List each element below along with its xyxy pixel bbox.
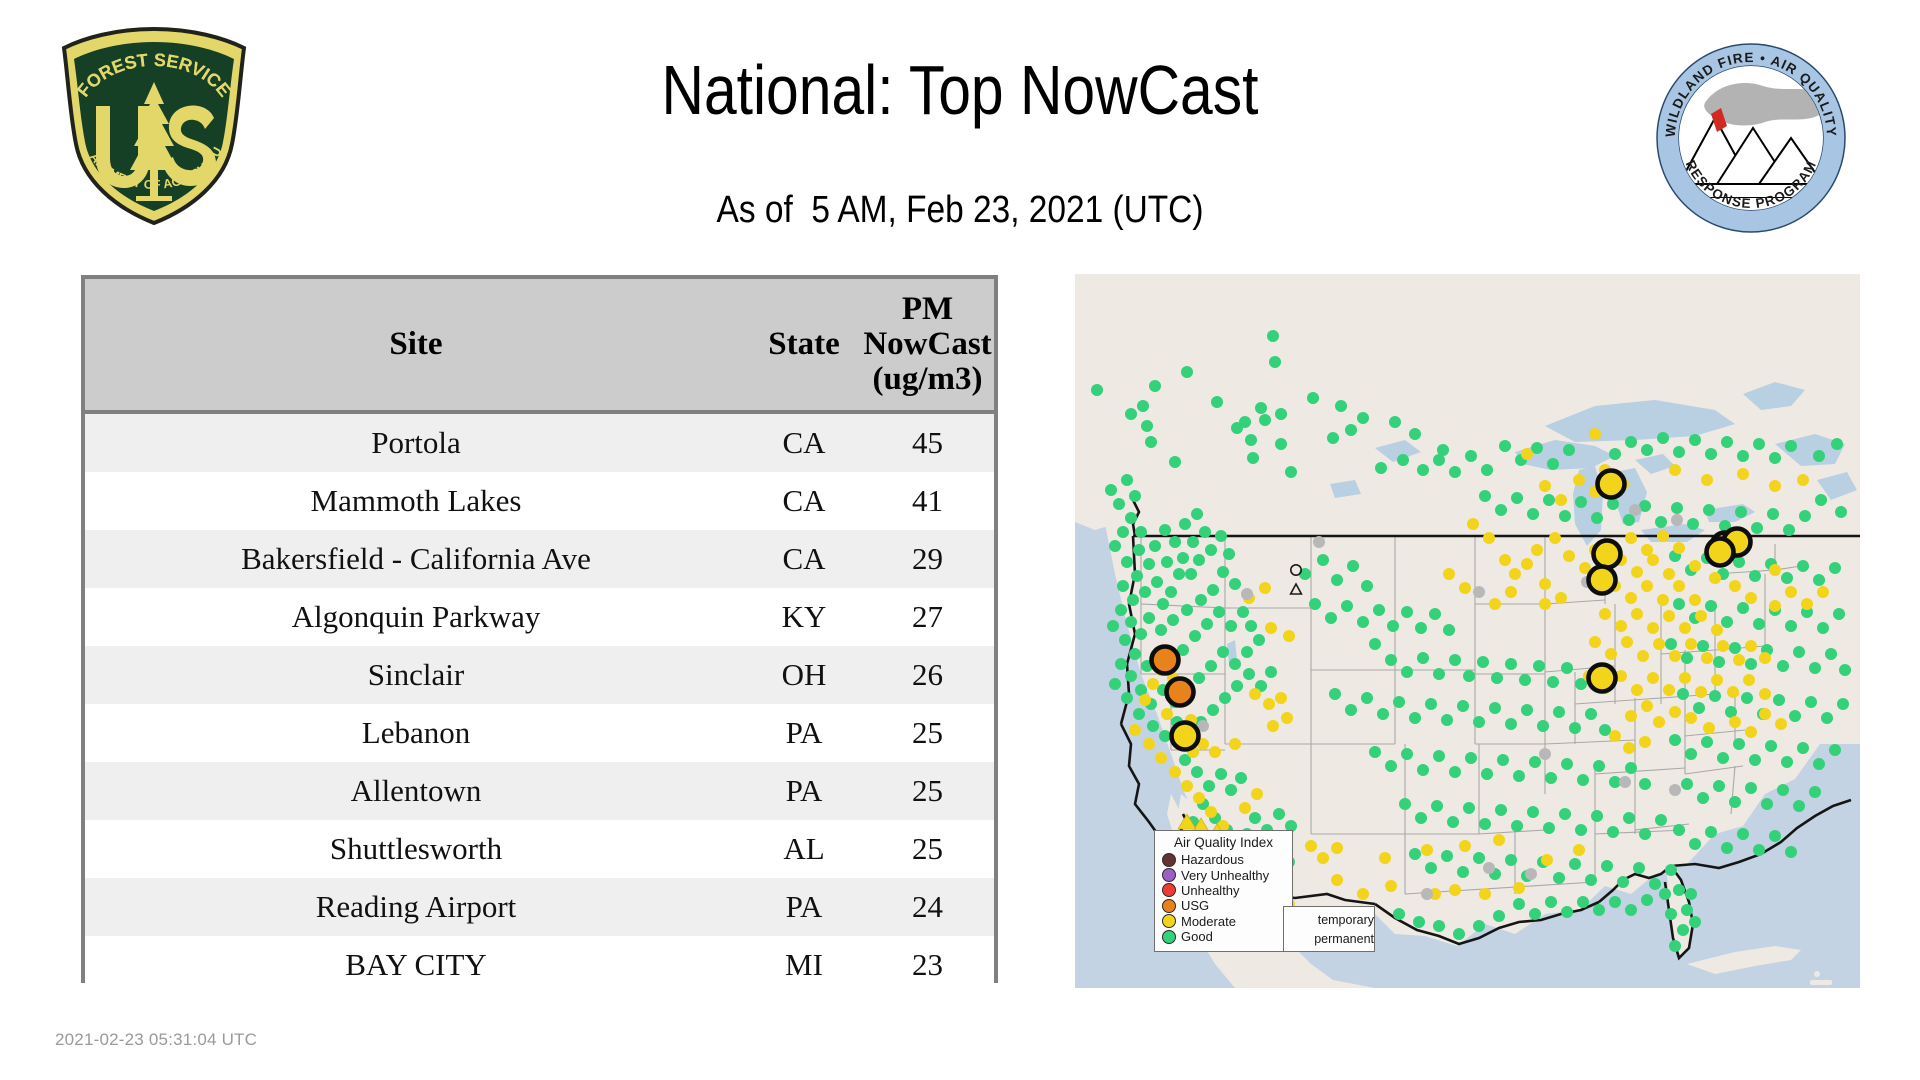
cell-state: PA bbox=[747, 878, 861, 936]
cell-site: Mammoth Lakes bbox=[85, 472, 747, 530]
cell-pm: 29 bbox=[861, 530, 994, 588]
cell-site: Bakersfield - California Ave bbox=[85, 530, 747, 588]
table-row: Lebanon PA 25 bbox=[85, 704, 994, 762]
pm-header-line-1: PM bbox=[902, 291, 953, 327]
cell-site: Portola bbox=[85, 412, 747, 472]
table-row: Reading Airport PA 24 bbox=[85, 878, 994, 936]
aqi-legend-item-hazardous: Hazardous bbox=[1155, 852, 1292, 867]
cell-pm: 27 bbox=[861, 588, 994, 646]
aqi-label-very-unhealthy: Very Unhealthy bbox=[1181, 869, 1269, 882]
map-marker-shuttlesworth bbox=[1589, 665, 1616, 692]
wildland-fire-air-quality-response-program-logo: WILDLAND FIRE • AIR QUALITY RESPONSE PRO… bbox=[1655, 42, 1847, 234]
map-marker-lebanon bbox=[1707, 539, 1734, 566]
cell-state: KY bbox=[747, 588, 861, 646]
aqi-label-unhealthy: Unhealthy bbox=[1181, 884, 1240, 897]
map-marker-portola bbox=[1152, 647, 1179, 674]
aqi-dot-hazardous bbox=[1162, 853, 1176, 867]
table-row: Algonquin Parkway KY 27 bbox=[85, 588, 994, 646]
aqi-legend-item-very-unhealthy: Very Unhealthy bbox=[1155, 867, 1292, 882]
cell-state: CA bbox=[747, 412, 861, 472]
cell-pm: 41 bbox=[861, 472, 994, 530]
table-row: Allentown PA 25 bbox=[85, 762, 994, 820]
map-marker-bakersfield bbox=[1172, 723, 1199, 750]
map-marker-mammoth-lakes bbox=[1167, 679, 1194, 706]
cell-state: PA bbox=[747, 704, 861, 762]
monitor-legend-item-permanent: permanent bbox=[1289, 929, 1374, 948]
aqi-legend: Air Quality Index Hazardous Very Unhealt… bbox=[1154, 830, 1293, 952]
cell-pm: 45 bbox=[861, 412, 994, 472]
footer-timestamp: 2021-02-23 05:31:04 UTC bbox=[55, 1030, 257, 1050]
triangle-icon bbox=[1289, 582, 1310, 989]
column-header-state: State bbox=[747, 279, 861, 412]
aqi-legend-item-good: Good bbox=[1155, 929, 1292, 944]
slide-root: FOREST SERVICE FOREST SERVICE DEPARTMENT… bbox=[0, 0, 1920, 1080]
table-row: Bakersfield - California Ave CA 29 bbox=[85, 530, 994, 588]
cell-state: AL bbox=[747, 820, 861, 878]
table-row: Sinclair OH 26 bbox=[85, 646, 994, 704]
cell-pm: 24 bbox=[861, 878, 994, 936]
cell-site: Allentown bbox=[85, 762, 747, 820]
cell-pm: 23 bbox=[861, 936, 994, 994]
aqi-dot-unhealthy bbox=[1162, 883, 1176, 897]
table-header-row: Site State PM NowCast (ug/m3) bbox=[85, 279, 994, 412]
aqi-label-good: Good bbox=[1181, 930, 1213, 943]
pm-header-line-3: (ug/m3) bbox=[873, 361, 983, 397]
column-header-pm-nowcast: PM NowCast (ug/m3) bbox=[861, 279, 994, 412]
table-row: Mammoth Lakes CA 41 bbox=[85, 472, 994, 530]
aqi-dot-usg bbox=[1162, 899, 1176, 913]
aqi-label-hazardous: Hazardous bbox=[1181, 853, 1244, 866]
cell-state: PA bbox=[747, 762, 861, 820]
aqi-legend-item-moderate: Moderate bbox=[1155, 914, 1292, 929]
cell-state: CA bbox=[747, 530, 861, 588]
cell-site: Lebanon bbox=[85, 704, 747, 762]
cell-site: Algonquin Parkway bbox=[85, 588, 747, 646]
aqi-dot-good bbox=[1162, 930, 1176, 944]
aqi-label-usg: USG bbox=[1181, 899, 1209, 912]
aqi-legend-item-unhealthy: Unhealthy bbox=[1155, 883, 1292, 898]
cell-pm: 25 bbox=[861, 762, 994, 820]
cell-site: BAY CITY bbox=[85, 936, 747, 994]
cell-site: Reading Airport bbox=[85, 878, 747, 936]
table-row: BAY CITY MI 23 bbox=[85, 936, 994, 994]
cell-state: OH bbox=[747, 646, 861, 704]
monitor-legend-label-permanent: permanent bbox=[1314, 932, 1374, 946]
cell-state: CA bbox=[747, 472, 861, 530]
map-marker-bay-city bbox=[1598, 471, 1625, 498]
aqi-dot-moderate bbox=[1162, 914, 1176, 928]
aqi-legend-item-usg: USG bbox=[1155, 898, 1292, 913]
pm-header-line-2: NowCast bbox=[863, 326, 991, 362]
column-header-site: Site bbox=[85, 279, 747, 412]
table-row: Shuttlesworth AL 25 bbox=[85, 820, 994, 878]
page-subtitle: As of 5 AM, Feb 23, 2021 (UTC) bbox=[115, 188, 1805, 232]
table-row: Portola CA 45 bbox=[85, 412, 994, 472]
monitor-type-legend: temporary permanent bbox=[1283, 906, 1375, 952]
cell-pm: 25 bbox=[861, 820, 994, 878]
aqi-dot-very-unhealthy bbox=[1162, 868, 1176, 882]
cell-pm: 26 bbox=[861, 646, 994, 704]
map-marker-sinclair bbox=[1594, 541, 1621, 568]
air-quality-map[interactable]: Air Quality Index Hazardous Very Unhealt… bbox=[1075, 274, 1860, 988]
monitor-legend-label-temporary: temporary bbox=[1318, 913, 1374, 927]
cell-site: Sinclair bbox=[85, 646, 747, 704]
page-title: National: Top NowCast bbox=[154, 52, 1767, 128]
map-marker-algonquin-parkway bbox=[1589, 567, 1616, 594]
top-nowcast-table: Site State PM NowCast (ug/m3) Portola CA… bbox=[81, 275, 998, 983]
aqi-label-moderate: Moderate bbox=[1181, 915, 1236, 928]
cell-site: Shuttlesworth bbox=[85, 820, 747, 878]
aqi-legend-title: Air Quality Index bbox=[1155, 835, 1292, 850]
cell-pm: 25 bbox=[861, 704, 994, 762]
cell-state: MI bbox=[747, 936, 861, 994]
